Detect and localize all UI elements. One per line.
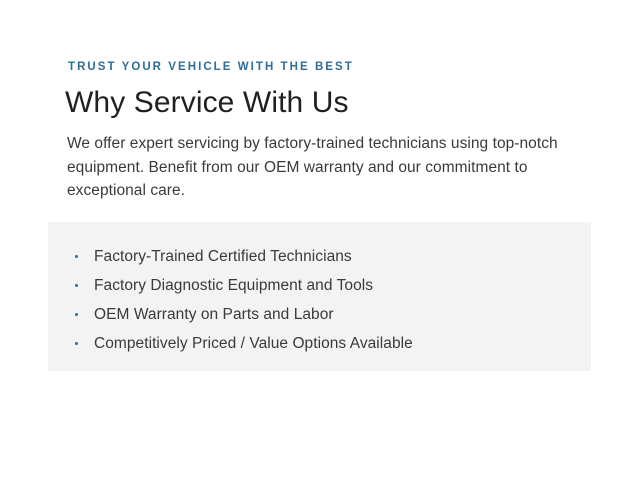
- list-item: OEM Warranty on Parts and Labor: [75, 300, 413, 329]
- list-item-label: Factory-Trained Certified Technicians: [94, 248, 352, 265]
- feature-list: Factory-Trained Certified Technicians Fa…: [75, 242, 413, 358]
- section-description: We offer expert servicing by factory-tra…: [67, 132, 577, 203]
- bullet-dot-icon: [75, 313, 78, 316]
- feature-panel: Factory-Trained Certified Technicians Fa…: [48, 222, 591, 371]
- bullet-dot-icon: [75, 255, 78, 258]
- bullet-dot-icon: [75, 284, 78, 287]
- list-item-label: Competitively Priced / Value Options Ava…: [94, 335, 413, 352]
- list-item-label: Factory Diagnostic Equipment and Tools: [94, 277, 373, 294]
- list-item-label: OEM Warranty on Parts and Labor: [94, 306, 334, 323]
- bullet-dot-icon: [75, 342, 78, 345]
- page-title: Why Service With Us: [65, 83, 349, 123]
- list-item: Competitively Priced / Value Options Ava…: [75, 329, 413, 358]
- list-item: Factory-Trained Certified Technicians: [75, 242, 413, 271]
- section-eyebrow: TRUST YOUR VEHICLE WITH THE BEST: [68, 59, 354, 75]
- list-item: Factory Diagnostic Equipment and Tools: [75, 271, 413, 300]
- why-service-section: TRUST YOUR VEHICLE WITH THE BEST Why Ser…: [0, 0, 640, 480]
